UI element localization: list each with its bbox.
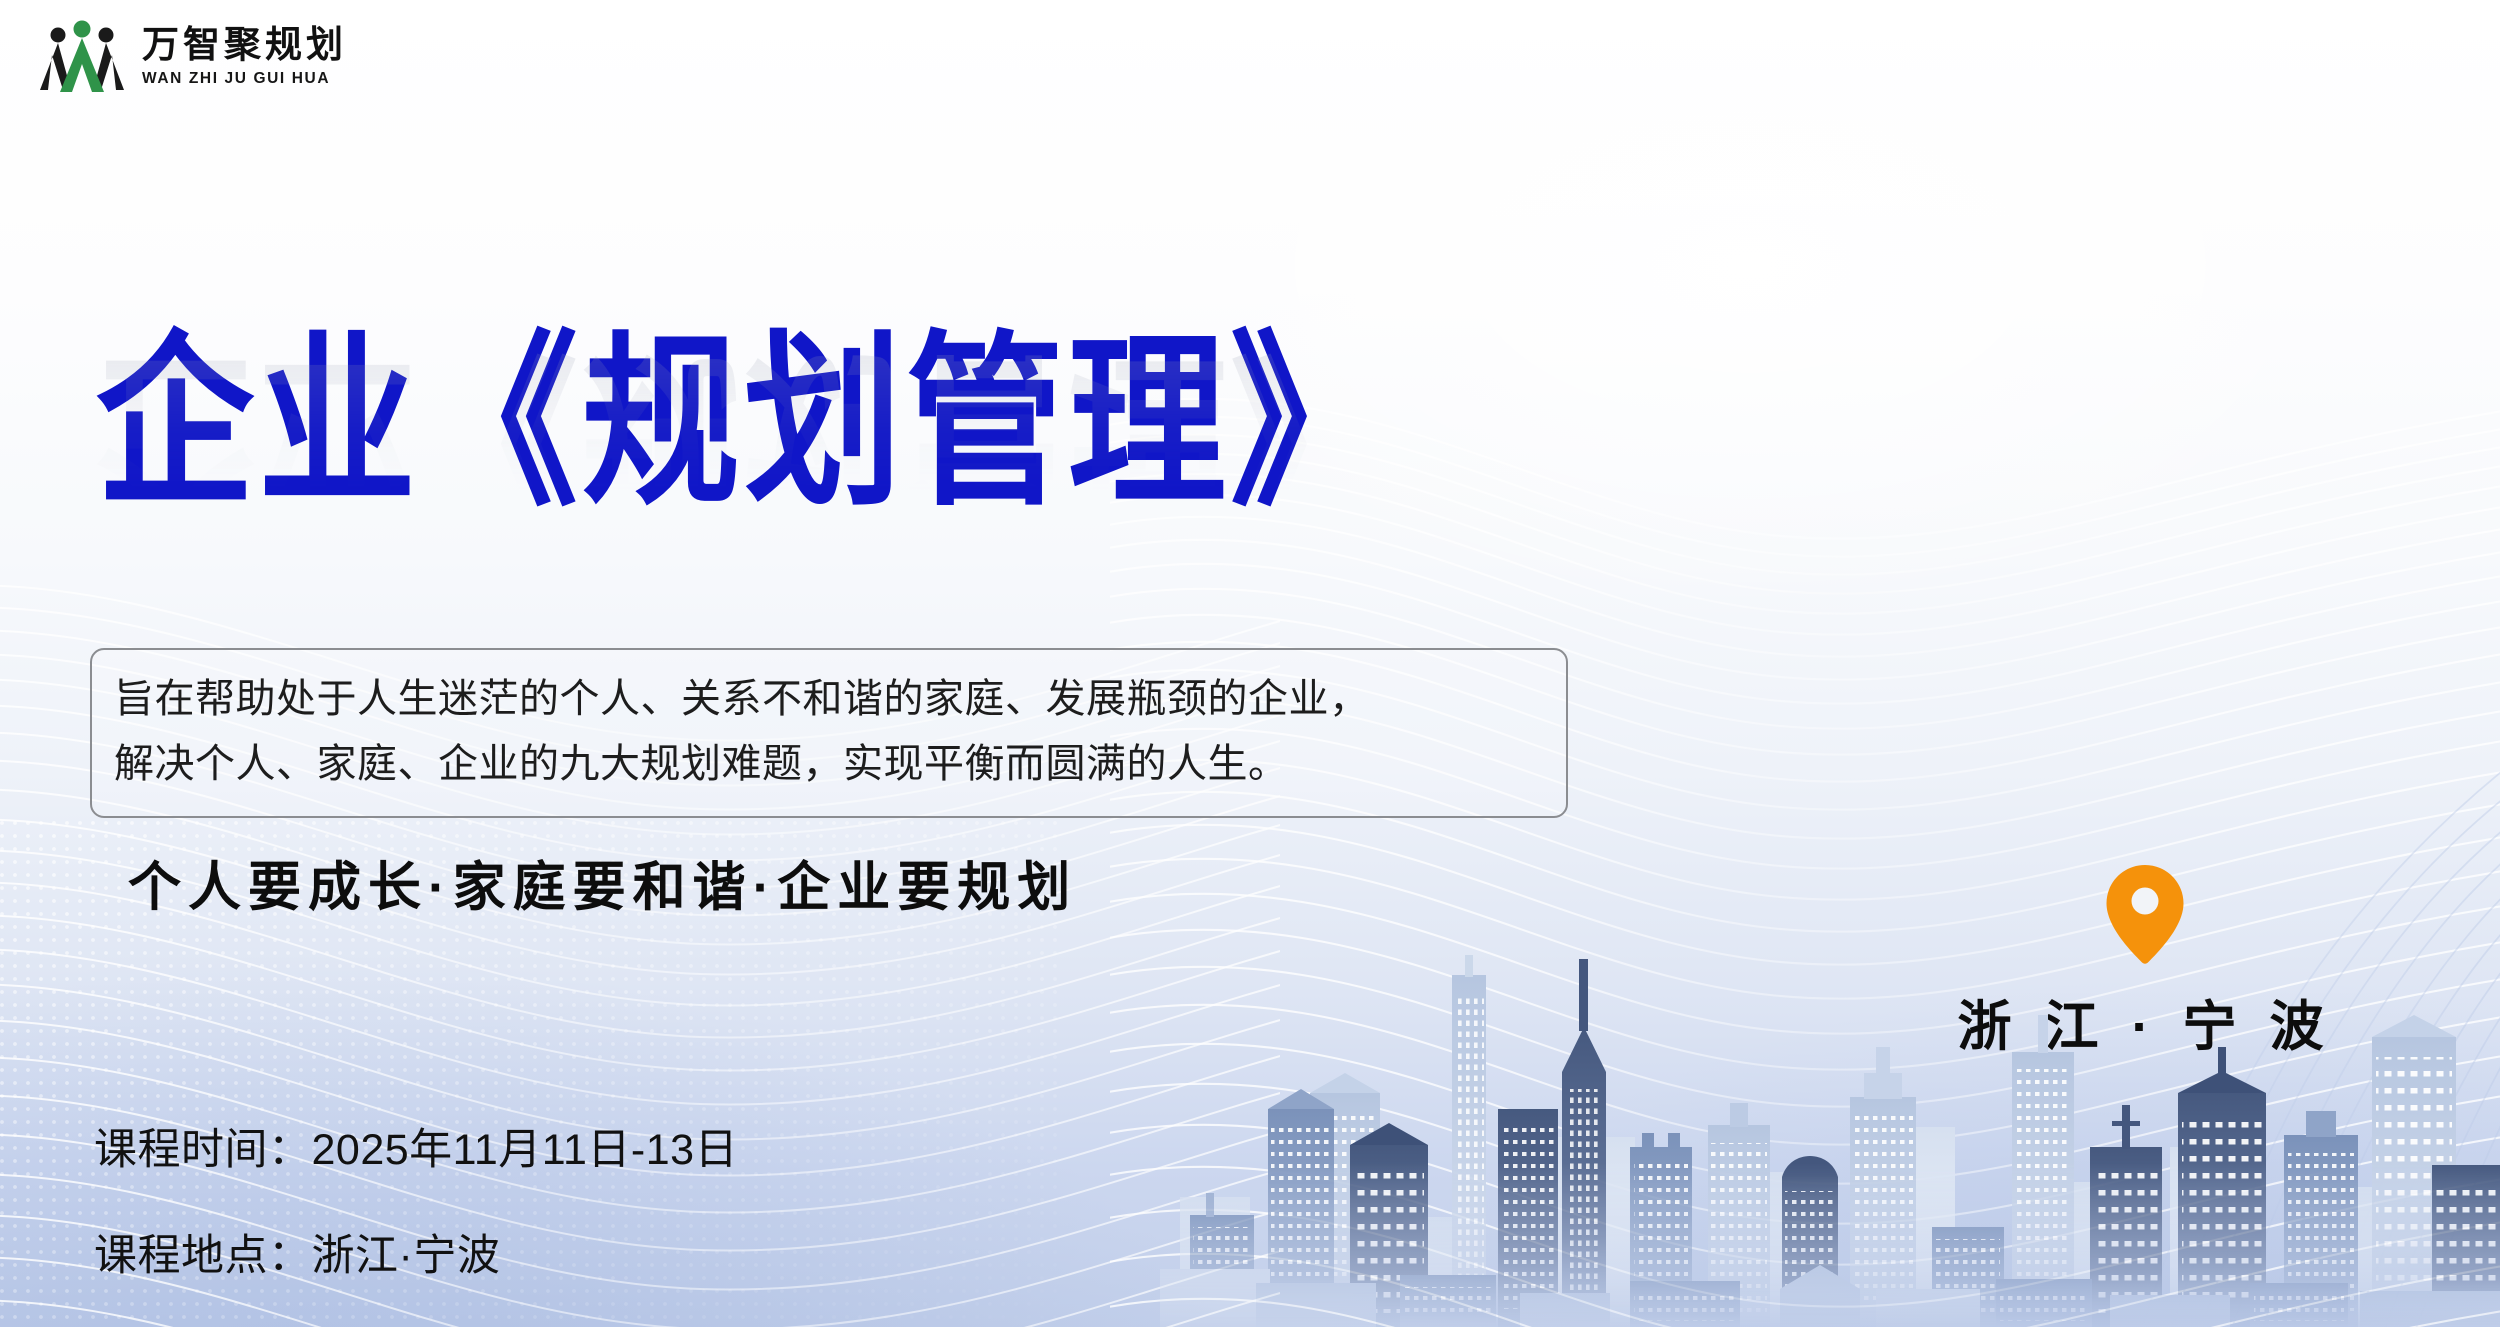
- description-line-1: 旨在帮助处于人生迷茫的个人、关系不和谐的家庭、发展瓶颈的企业，: [114, 667, 1544, 732]
- course-place: 课程地点：浙江·宁波: [94, 1221, 738, 1283]
- brand-logo: 万智聚规划 WAN ZHI JU GUI HUA: [36, 18, 347, 96]
- brand-name-pinyin: WAN ZHI JU GUI HUA: [142, 71, 347, 87]
- tagline: 个人要成长·家庭要和谐·企业要规划: [128, 845, 1077, 921]
- city-skyline-icon: [1160, 897, 2500, 1327]
- description-line-2: 解决个人、家庭、企业的九大规划难题，实现平衡而圆满的人生。: [114, 732, 1544, 797]
- course-meta: 课程时间：2025年11月11日-13日 课程地点：浙江·宁波: [94, 1115, 738, 1283]
- course-time: 课程时间：2025年11月11日-13日: [94, 1115, 738, 1177]
- page-title-reflection: 企业《规划管理》: [96, 344, 1392, 530]
- three-people-logo-icon: [36, 18, 128, 96]
- description-box: 旨在帮助处于人生迷茫的个人、关系不和谐的家庭、发展瓶颈的企业， 解决个人、家庭、…: [90, 648, 1568, 818]
- hero-title-block: 企业《规划管理》 企业《规划管理》: [96, 330, 1656, 670]
- poster-canvas: 万智聚规划 WAN ZHI JU GUI HUA 企业《规划管理》 企业《规划管…: [0, 0, 2500, 1327]
- brand-name-cn: 万智聚规划: [142, 27, 347, 64]
